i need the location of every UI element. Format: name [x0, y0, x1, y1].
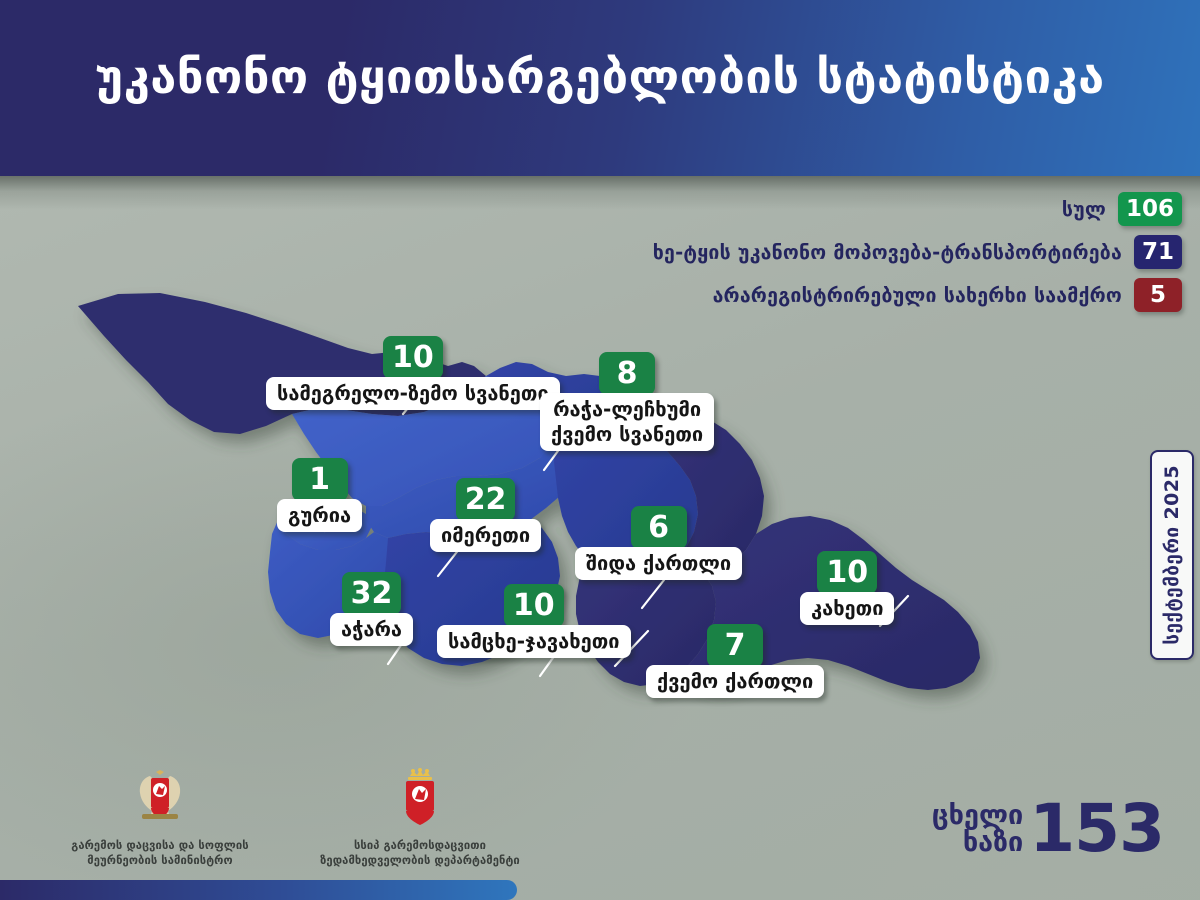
callout-label-samtskhe: სამცხე-ჯავახეთი [437, 625, 631, 658]
ministry-block: გარემოს დაცვისა და სოფლის მეურნეობის სამ… [40, 766, 280, 868]
callout-samegrelo-zemo-svaneti[interactable]: 10 სამეგრელო-ზემო სვანეთი [266, 336, 560, 410]
callout-guria[interactable]: 1 გურია [277, 458, 362, 532]
date-tag: სექტემბერი 2025 [1150, 450, 1194, 660]
georgia-shield-icon [392, 766, 448, 828]
callout-label-kakheti: კახეთი [800, 592, 894, 625]
callout-label-samegrelo: სამეგრელო-ზემო სვანეთი [266, 377, 560, 410]
legend-row-illegal-logging: ხე-ტყის უკანონო მოპოვება-ტრანსპორტირება … [653, 235, 1182, 269]
department-block: სსიპ გარემოსდაცვითი ზედამხედველობის დეპა… [280, 766, 560, 868]
callout-samtskhe-javakheti[interactable]: 10 სამცხე-ჯავახეთი [437, 584, 631, 658]
callout-value-samtskhe: 10 [504, 584, 564, 627]
callout-kakheti[interactable]: 10 კახეთი [800, 551, 894, 625]
legend-row-unregistered-sawmill: არარეგისტრირებული სახერხი საამქრო 5 [653, 278, 1182, 312]
callout-kvemo-kartli[interactable]: 7 ქვემო ქართლი [646, 624, 824, 698]
legend-label-illegal-logging: ხე-ტყის უკანონო მოპოვება-ტრანსპორტირება [653, 241, 1122, 264]
date-tag-label: სექტემბერი 2025 [1161, 465, 1183, 645]
callout-imereti[interactable]: 22 იმერეთი [430, 478, 541, 552]
bottom-accent-bar [0, 880, 517, 900]
legend-row-total: სულ 106 [653, 192, 1182, 226]
department-caption: სსიპ გარემოსდაცვითი ზედამხედველობის დეპა… [280, 838, 560, 868]
legend-chip-illegal-logging: 71 [1134, 235, 1182, 269]
callout-value-kakheti: 10 [817, 551, 877, 594]
callout-label-guria: გურია [277, 499, 362, 532]
callout-value-kvemo-kartli: 7 [707, 624, 763, 667]
header-banner: უკანონო ტყითსარგებლობის სტატისტიკა [0, 0, 1200, 176]
callout-label-shida-kartli: შიდა ქართლი [575, 547, 742, 580]
page-title: უკანონო ტყითსარგებლობის სტატისტიკა [0, 49, 1200, 107]
hotline-number: 153 [1029, 800, 1164, 858]
callout-racha-lechkhumi[interactable]: 8 რაჭა-ლეჩხუმი ქვემო სვანეთი [540, 352, 714, 451]
hotline-block: ცხელი ხაზი 153 [932, 800, 1164, 858]
ministry-caption: გარემოს დაცვისა და სოფლის მეურნეობის სამ… [40, 838, 280, 868]
legend-label-total: სულ [1062, 198, 1106, 221]
georgia-coat-of-arms-icon [128, 766, 192, 828]
legend-chip-total: 106 [1118, 192, 1182, 226]
callout-value-imereti: 22 [456, 478, 516, 521]
callout-label-adjara: აჭარა [330, 613, 413, 646]
callout-value-guria: 1 [292, 458, 348, 501]
callout-shida-kartli[interactable]: 6 შიდა ქართლი [575, 506, 742, 580]
callout-label-racha: რაჭა-ლეჩხუმი ქვემო სვანეთი [540, 393, 714, 451]
callout-value-shida-kartli: 6 [631, 506, 687, 549]
legend-label-unregistered-sawmill: არარეგისტრირებული სახერხი საამქრო [713, 284, 1122, 307]
callout-value-adjara: 32 [342, 572, 402, 615]
callout-value-racha: 8 [599, 352, 655, 395]
callout-value-samegrelo: 10 [383, 336, 443, 379]
callout-adjara[interactable]: 32 აჭარა [330, 572, 413, 646]
legend: სულ 106 ხე-ტყის უკანონო მოპოვება-ტრანსპო… [653, 192, 1182, 321]
callout-label-imereti: იმერეთი [430, 519, 541, 552]
infographic-root: უკანონო ტყითსარგებლობის სტატისტიკა სულ 1… [0, 0, 1200, 900]
callout-label-kvemo-kartli: ქვემო ქართლი [646, 665, 824, 698]
legend-chip-unregistered-sawmill: 5 [1134, 278, 1182, 312]
hotline-label: ცხელი ხაზი [932, 802, 1023, 856]
